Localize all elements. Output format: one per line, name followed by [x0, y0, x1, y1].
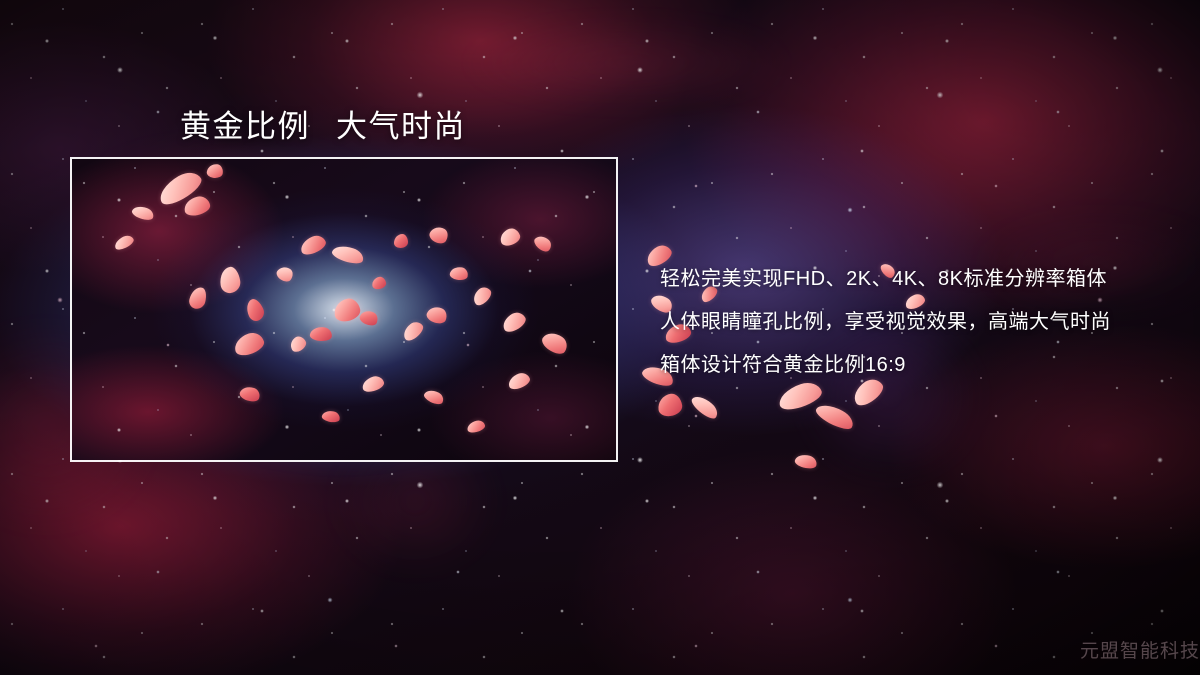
display-screen-content	[72, 159, 616, 460]
petal-decoration	[394, 234, 408, 248]
slide-canvas: 黄金比例大气时尚 轻松完美实现FHD、2K、4K、8K标准分辨率箱体 人体眼睛瞳…	[0, 0, 1200, 675]
title-text-secondary: 大气时尚	[336, 109, 466, 144]
watermark-label: 元盟智能科技	[1080, 636, 1200, 663]
body-text-block: 轻松完美实现FHD、2K、4K、8K标准分辨率箱体 人体眼睛瞳孔比例，享受视觉效…	[660, 258, 1180, 387]
body-line-3: 箱体设计符合黄金比例16:9	[660, 344, 1180, 387]
page-title: 黄金比例大气时尚	[180, 101, 466, 146]
title-text-primary: 黄金比例	[180, 109, 310, 144]
display-screen-frame[interactable]	[70, 157, 618, 462]
body-line-1: 轻松完美实现FHD、2K、4K、8K标准分辨率箱体	[660, 258, 1180, 301]
body-line-2: 人体眼睛瞳孔比例，享受视觉效果，高端大气时尚	[660, 301, 1180, 344]
